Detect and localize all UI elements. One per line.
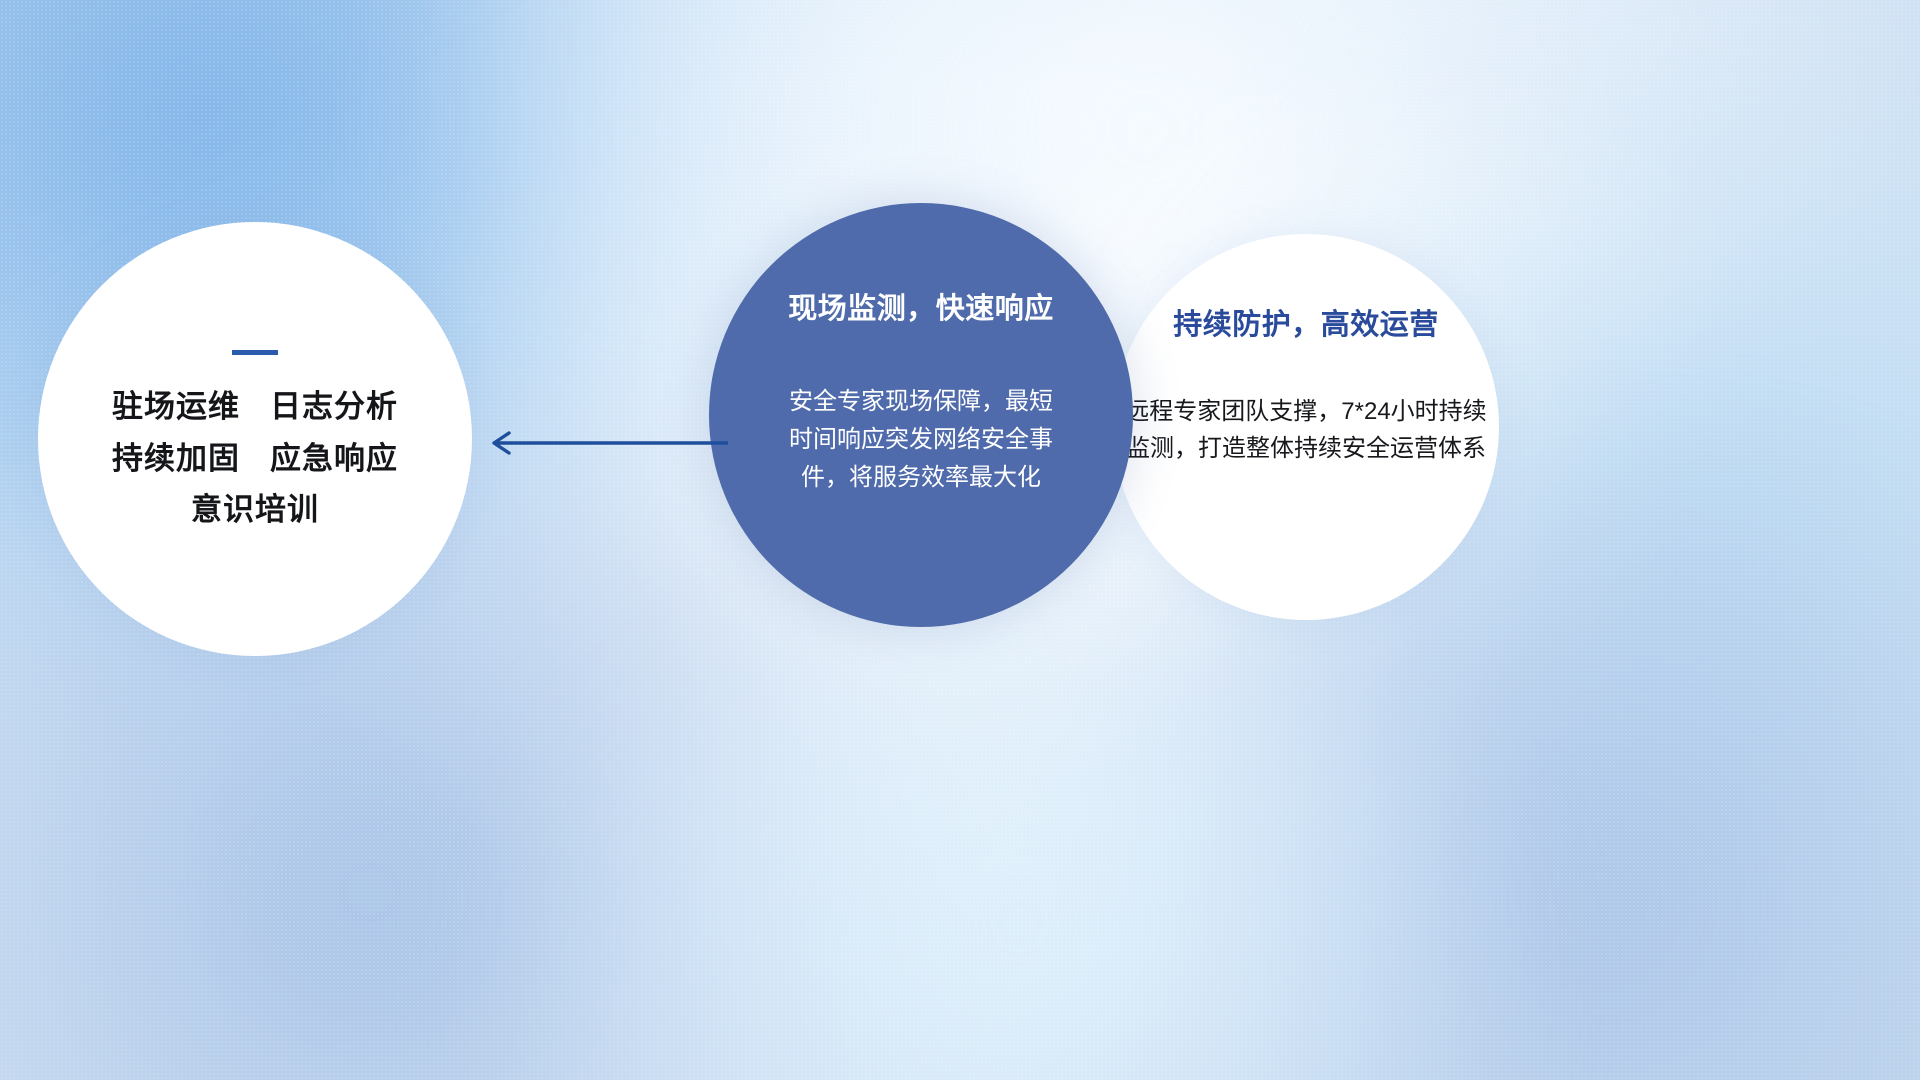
- capability-tag-row: 持续加固 应急响应: [112, 441, 398, 477]
- continuous-protection-circle[interactable]: 持续防护，高效运营 远程专家团队支撑，7*24小时持续监测，打造整体持续安全运营…: [1113, 234, 1499, 620]
- left-arrow-icon: [480, 420, 730, 466]
- capabilities-circle[interactable]: 驻场运维 日志分析 持续加固 应急响应 意识培训: [38, 222, 472, 656]
- capability-tag[interactable]: 意识培训: [191, 492, 319, 528]
- continuous-protection-title: 持续防护，高效运营: [1173, 301, 1439, 343]
- title-dash-divider: [232, 350, 278, 355]
- onsite-monitoring-title: 现场监测，快速响应: [788, 285, 1054, 327]
- onsite-monitoring-circle[interactable]: 现场监测，快速响应 安全专家现场保障，最短时间响应突发网络安全事件，将服务效率最…: [709, 203, 1133, 627]
- capability-tag[interactable]: 日志分析: [270, 389, 398, 425]
- capability-tag-row: 意识培训: [191, 492, 319, 528]
- slide-canvas: 驻场运维 日志分析 持续加固 应急响应 意识培训 持续防护，高效运营 远程专家团…: [0, 0, 1920, 1080]
- capability-tag-row: 驻场运维 日志分析: [112, 389, 398, 425]
- capability-tag[interactable]: 应急响应: [270, 441, 398, 477]
- capability-tag[interactable]: 持续加固: [112, 441, 240, 477]
- capability-tag-list: 驻场运维 日志分析 持续加固 应急响应 意识培训: [112, 389, 398, 528]
- capability-tag[interactable]: 驻场运维: [112, 389, 240, 425]
- continuous-protection-body: 远程专家团队支撑，7*24小时持续监测，打造整体持续安全运营体系: [1123, 393, 1489, 468]
- onsite-monitoring-body: 安全专家现场保障，最短时间响应突发网络安全事件，将服务效率最大化: [787, 383, 1055, 497]
